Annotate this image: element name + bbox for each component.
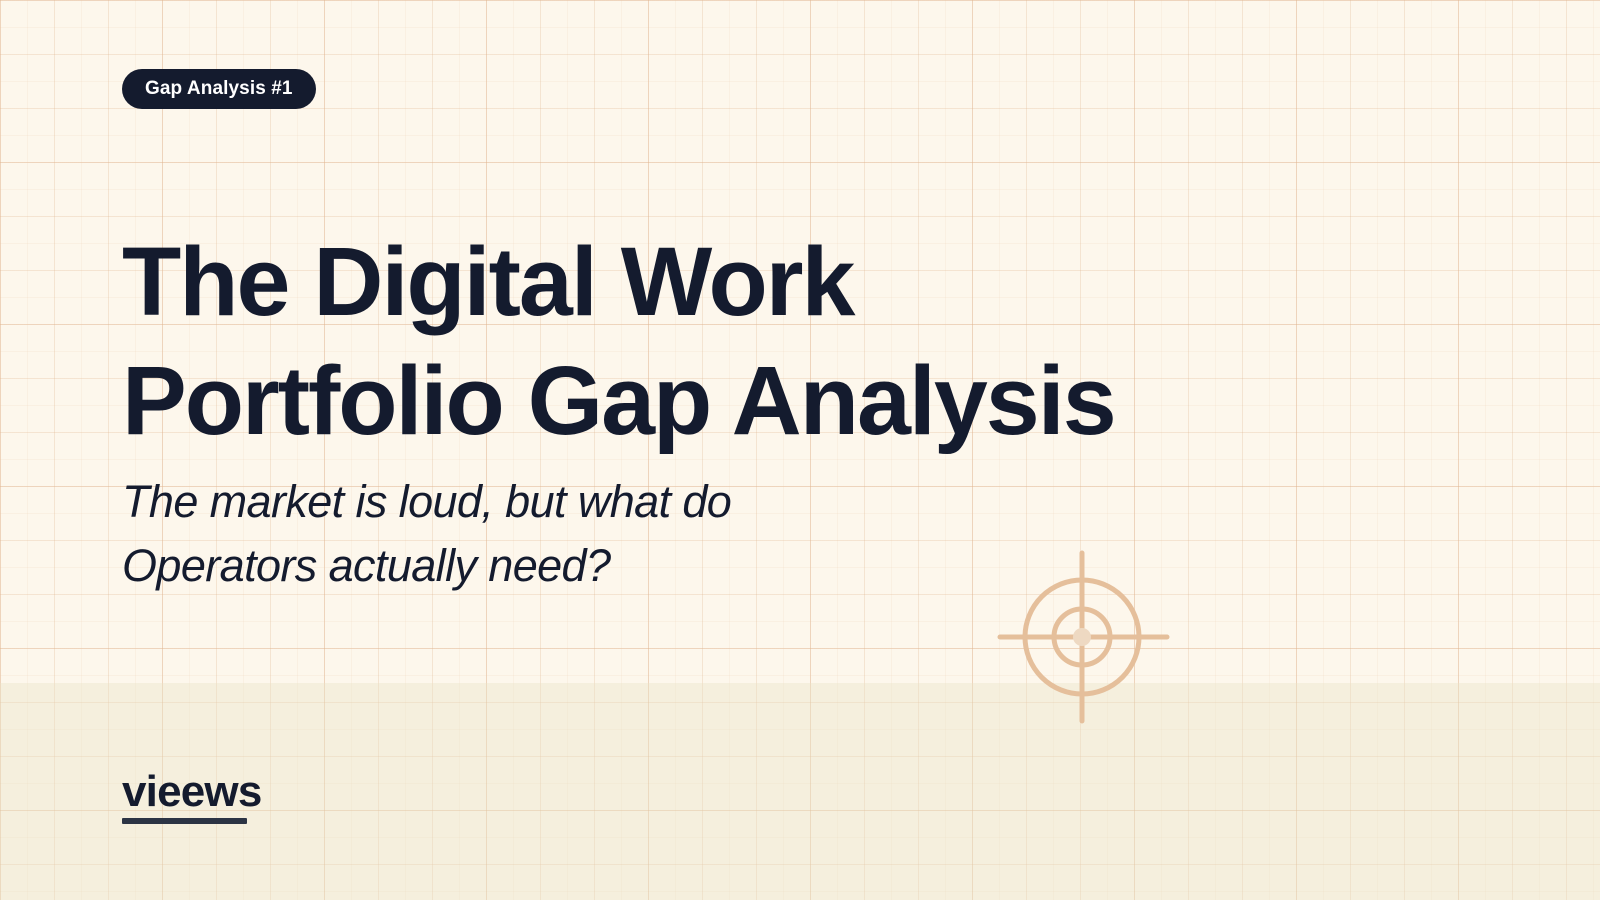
page-title-line-2: Portfolio Gap Analysis — [122, 341, 1162, 460]
page-subtitle: The market is loud, but what do Operator… — [122, 470, 982, 598]
brand-logo: vieews — [122, 768, 262, 824]
brand-logo-wordmark: vieews — [122, 768, 262, 816]
page-title: The Digital Work Portfolio Gap Analysis — [122, 222, 1162, 460]
page-subtitle-line-2: Operators actually need? — [122, 534, 982, 598]
brand-logo-underline — [122, 818, 247, 824]
section-badge: Gap Analysis #1 — [122, 69, 316, 109]
section-badge-label: Gap Analysis #1 — [145, 78, 293, 100]
crosshair-target-icon — [995, 548, 1173, 726]
slide-canvas: Gap Analysis #1 The Digital Work Portfol… — [0, 0, 1600, 900]
page-subtitle-line-1: The market is loud, but what do — [122, 470, 982, 534]
page-title-line-1: The Digital Work — [122, 222, 1162, 341]
crosshair-target-icon-svg — [995, 548, 1173, 726]
